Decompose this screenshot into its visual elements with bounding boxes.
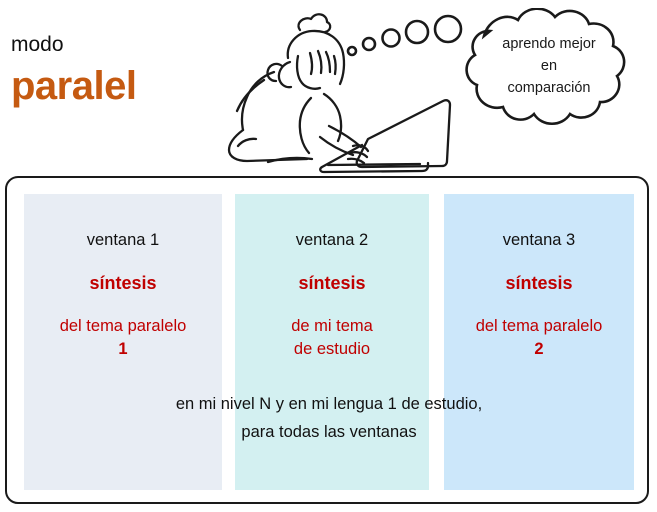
synthesis-label-2: síntesis <box>235 274 429 292</box>
thought-bubble-line-1: aprendo mejor <box>466 33 632 55</box>
thought-bubble-text: aprendo mejor en comparación <box>466 33 632 99</box>
synthesis-label-3: síntesis <box>444 274 634 292</box>
window-detail-1: del tema paralelo 1 <box>24 315 222 362</box>
window-column-2[interactable]: ventana 2 síntesis de mi tema de estudio <box>235 194 429 490</box>
window-detail-3-line-1: del tema paralelo <box>444 315 634 338</box>
thought-bubble-line-2: en <box>466 55 632 77</box>
window-label-3: ventana 3 <box>444 232 634 249</box>
mode-label: modo <box>11 34 64 55</box>
window-detail-2-line-2: de estudio <box>235 338 429 361</box>
header-area: modo paralel <box>0 0 657 176</box>
window-detail-1-line-1: del tema paralelo <box>24 315 222 338</box>
window-column-1[interactable]: ventana 1 síntesis del tema paralelo 1 <box>24 194 222 490</box>
window-detail-1-line-2: 1 <box>24 338 222 361</box>
window-detail-3-line-2: 2 <box>444 338 634 361</box>
parallel-mode-panel: ventana 1 síntesis del tema paralelo 1 v… <box>5 176 649 504</box>
window-detail-2: de mi tema de estudio <box>235 315 429 362</box>
synthesis-label-1: síntesis <box>24 274 222 292</box>
window-label-2: ventana 2 <box>235 232 429 249</box>
window-column-3[interactable]: ventana 3 síntesis del tema paralelo 2 <box>444 194 634 490</box>
mode-name-title: paralel <box>11 66 136 106</box>
thought-bubble-line-3: comparación <box>466 77 632 99</box>
window-detail-2-line-1: de mi tema <box>235 315 429 338</box>
window-detail-3: del tema paralelo 2 <box>444 315 634 362</box>
window-label-1: ventana 1 <box>24 232 222 249</box>
window-columns: ventana 1 síntesis del tema paralelo 1 v… <box>7 178 647 502</box>
